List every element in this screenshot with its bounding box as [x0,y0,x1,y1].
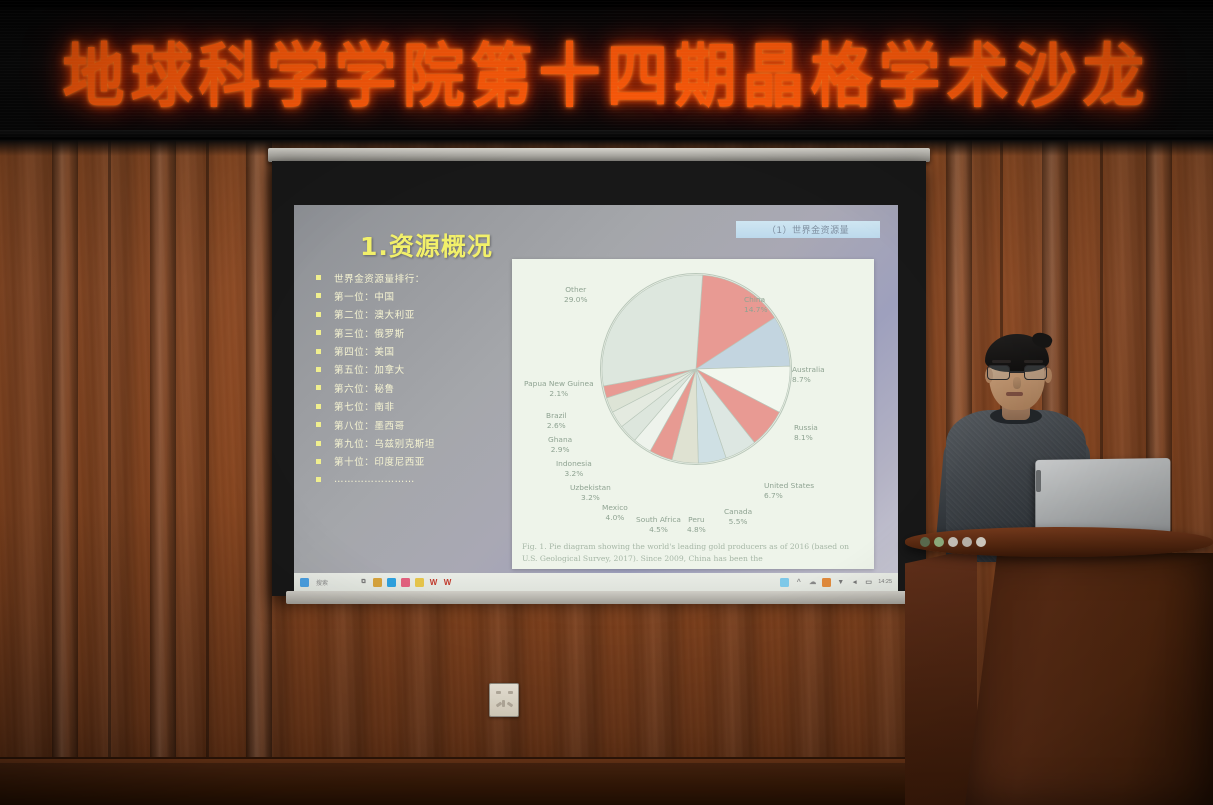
glasses-lens [987,365,1010,380]
list-item: 第三位：俄罗斯 [316,326,506,339]
slide-bullet-list: 世界金资源量排行： 第一位：中国 第二位：澳大利亚 第三位：俄罗斯 第四位：美国 [316,271,506,492]
bullet-label: 第一位：中国 [334,289,395,303]
screen-roller-housing [268,148,930,162]
pie-label-australia: Australia 8.7% [792,365,825,385]
banner-bottom-edge [0,130,1213,140]
taskbar-search-input[interactable]: 搜索 [316,578,328,587]
bullet-label: 第四位：美国 [334,344,395,358]
battery-icon[interactable]: ▭ [864,578,873,587]
pie-label-brazil: Brazil 2.6% [546,411,567,431]
store-icon[interactable] [401,578,410,587]
mail-icon[interactable] [415,578,424,587]
bullet-label: 第七位：南非 [334,399,395,413]
pie-label-south-africa: South Africa 4.5% [636,515,681,535]
podium-button[interactable] [948,537,958,547]
figure-caption: Fig. 1. Pie diagram showing the world's … [522,541,864,564]
banner-text: 地球科学学院第十四期晶格学术沙龙 [62,20,1150,121]
list-item: 第二位：澳大利亚 [316,308,506,321]
pie-slice-other [602,275,703,386]
bullet-square-icon [316,385,321,390]
chevron-up-icon[interactable]: ^ [794,578,803,587]
podium-button[interactable] [976,537,986,547]
bullet-square-icon [316,404,321,409]
bullet-square-icon [316,349,321,354]
wall-seam [108,140,111,805]
presenter-eyebrow [992,360,1011,363]
wall-pilaster [52,140,78,805]
bullet-square-icon [316,293,321,298]
windows-taskbar: 搜索 ⧉ W W ^ ☁ ▼ ◂ ▭ 14:25 [294,573,898,591]
presenter-nose [1013,377,1021,389]
figure-panel: China 14.7% Australia 8.7% Russia 8.1% U… [512,259,874,569]
pie-label-china: China 14.7% [744,295,767,315]
bullet-label: 第五位：加拿大 [334,362,405,376]
powerpoint-slide: 1.资源概况 （1）世界金资源量 世界金资源量排行： 第一位：中国 第二位：澳大… [294,205,898,573]
banner-top-edge [0,0,1213,8]
cloud-icon[interactable]: ☁ [808,578,817,587]
bullet-label: 世界金资源量排行： [334,271,425,285]
led-banner: 地球科学学院第十四期晶格学术沙龙 [0,0,1213,140]
list-item: 第八位：墨西哥 [316,418,506,431]
bullet-square-icon [316,312,321,317]
pie-label-russia: Russia 8.1% [794,423,818,443]
pie-label-ghana: Ghana 2.9% [548,435,572,455]
presenter-eyebrow [1024,360,1043,363]
podium-button[interactable] [962,537,972,547]
outlet-slot [502,700,505,707]
pie-label-papua-new-guinea: Papua New Guinea 2.1% [524,379,594,399]
bullet-square-icon [316,367,321,372]
outlet-slot [508,691,513,694]
presenter-laptop[interactable] [1035,458,1170,532]
podium-button[interactable] [920,537,930,547]
bullet-square-icon [316,422,321,427]
bullet-label: …………………… [334,474,415,485]
wps-icon[interactable]: W [443,578,452,587]
podium-body [965,553,1213,805]
shield-icon[interactable] [822,578,831,587]
wall-pilaster [246,140,272,805]
wall-pilaster [150,140,176,805]
bullet-square-icon [316,441,321,446]
list-item: 第四位：美国 [316,345,506,358]
wall-seam [206,140,209,805]
list-item: 第五位：加拿大 [316,363,506,376]
list-item: 第六位：秘鲁 [316,381,506,394]
bullet-square-icon [316,477,321,482]
glasses-lens [1024,365,1047,380]
bullet-label: 第九位：乌兹别克斯坦 [334,436,435,450]
podium-button[interactable] [934,537,944,547]
taskbar-clock[interactable]: 14:25 [878,579,892,586]
bullet-label: 第六位：秘鲁 [334,381,395,395]
pie-label-united-states: United States 6.7% [764,481,814,501]
list-item: 世界金资源量排行： [316,271,506,284]
outlet-slot [496,691,501,694]
list-item: 第七位：南非 [316,400,506,413]
list-item: …………………… [316,473,506,486]
volume-icon[interactable]: ◂ [850,578,859,587]
bullet-label: 第三位：俄罗斯 [334,326,405,340]
glasses-bridge [1010,371,1024,373]
pie-label-indonesia: Indonesia 3.2% [556,459,592,479]
laptop-hinge [1036,470,1041,492]
bullet-label: 第八位：墨西哥 [334,418,405,432]
slide-title: 1.资源概况 [360,227,493,263]
presenter-mouth [1006,392,1023,396]
slide-header-label: （1）世界金资源量 [767,223,849,236]
edge-icon[interactable] [387,578,396,587]
outlet-slot [507,702,514,708]
lecture-hall-scene: 地球科学学院第十四期晶格学术沙龙 1.资源概况 （1）世界金资源量 世界金资源量… [0,0,1213,805]
slide-header-box: （1）世界金资源量 [736,221,880,238]
pie-label-canada: Canada 5.5% [724,507,752,527]
list-item: 第一位：中国 [316,289,506,302]
pie-label-peru: Peru 4.8% [687,515,706,535]
network-icon[interactable]: ▼ [836,578,845,587]
file-explorer-icon[interactable] [373,578,382,587]
bullet-square-icon [316,330,321,335]
bullet-label: 第二位：澳大利亚 [334,307,415,321]
bullet-square-icon [316,275,321,280]
ime-icon[interactable] [780,578,789,587]
list-item: 第十位：印度尼西亚 [316,455,506,468]
task-view-icon[interactable]: ⧉ [359,578,368,587]
bullet-square-icon [316,459,321,464]
screen-bottom-bar [286,591,908,604]
pie-label-uzbekistan: Uzbekistan 3.2% [570,483,611,503]
list-item: 第九位：乌兹别克斯坦 [316,437,506,450]
start-icon[interactable] [300,578,309,587]
pie-label-other: Other 29.0% [564,285,587,305]
bullet-label: 第十位：印度尼西亚 [334,454,425,468]
pie-label-mexico: Mexico 4.0% [602,503,628,523]
projection-screen-surface: 1.资源概况 （1）世界金资源量 世界金资源量排行： 第一位：中国 第二位：澳大… [294,205,898,591]
wall-outlet[interactable] [489,683,519,717]
podium-side-panel [905,548,977,805]
word-icon[interactable]: W [429,578,438,587]
podium-control-panel[interactable] [920,533,998,550]
